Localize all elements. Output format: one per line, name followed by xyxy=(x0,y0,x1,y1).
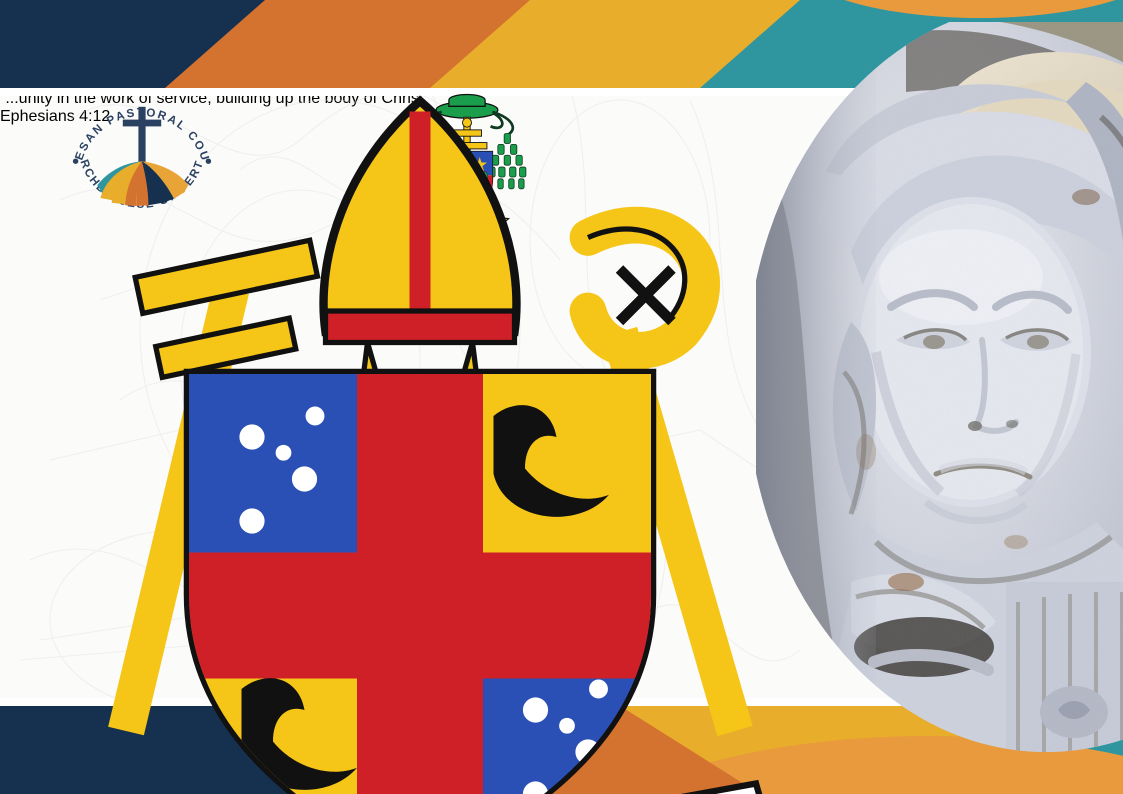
date-label: Date: xyxy=(0,18,38,35)
poster-canvas: DIOCESAN PASTORAL COUNCIL ARCHDIOCESE OF… xyxy=(0,0,1123,794)
logo-row: DIOCESAN PASTORAL COUNCIL ARCHDIOCESE OF… xyxy=(0,38,840,208)
page-title: INFORMATION SESSION #1 xyxy=(0,0,1123,18)
date-value: Saturday 08 November 2025 xyxy=(43,18,248,35)
archdiocese-of-perth-coat-of-arms: ARCHDIOCESE OF PERTH xyxy=(0,38,840,794)
